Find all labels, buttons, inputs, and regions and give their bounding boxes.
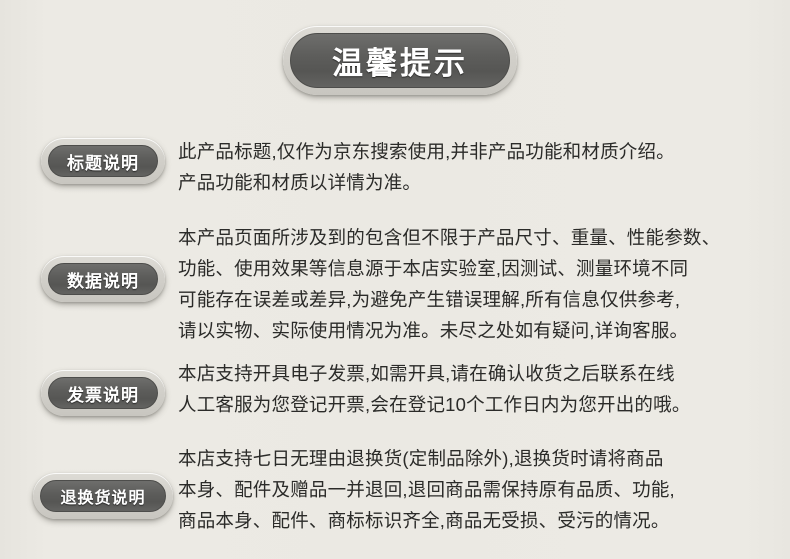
section-badge-return: 退换货说明 — [40, 480, 166, 512]
section-text-invoice: 本店支持开具电子发票,如需开具,请在确认收货之后联系在线 人工客服为您登记开票,… — [178, 358, 768, 420]
title-badge: 温馨提示 — [290, 33, 510, 88]
section-text-line: 本店支持七日无理由退换货(定制品除外),退换货时请将商品 — [178, 443, 768, 474]
section-text-title: 此产品标题,仅作为京东搜索使用,并非产品功能和材质介绍。 产品功能和材质以详情为… — [178, 136, 768, 198]
section-badge-title: 标题说明 — [48, 145, 158, 177]
section-badge-data: 数据说明 — [48, 263, 158, 295]
section-badge-invoice: 发票说明 — [48, 377, 158, 409]
section-label-title: 标题说明 — [67, 149, 139, 174]
page-title: 温馨提示 — [332, 38, 468, 83]
section-text-line: 请以实物、实际使用情况为准。未尽之处如有疑问,详询客服。 — [178, 315, 768, 346]
tips-panel: 温馨提示 标题说明 此产品标题,仅作为京东搜索使用,并非产品功能和材质介绍。 产… — [0, 0, 790, 559]
section-label-invoice: 发票说明 — [67, 381, 139, 406]
section-text-line: 功能、使用效果等信息源于本店实验室,因测试、测量环境不同 — [178, 253, 768, 284]
section-text-data: 本产品页面所涉及到的包含但不限于产品尺寸、重量、性能参数、 功能、使用效果等信息… — [178, 222, 768, 346]
section-text-line: 商品本身、配件、商标标识齐全,商品无受损、受污的情况。 — [178, 505, 768, 536]
section-text-line: 本产品页面所涉及到的包含但不限于产品尺寸、重量、性能参数、 — [178, 222, 768, 253]
section-label-data: 数据说明 — [67, 267, 139, 292]
section-text-line: 本店支持开具电子发票,如需开具,请在确认收货之后联系在线 — [178, 358, 768, 389]
section-text-line: 产品功能和材质以详情为准。 — [178, 167, 768, 198]
section-text-line: 可能存在误差或差异,为避免产生错误理解,所有信息仅供参考, — [178, 284, 768, 315]
section-text-line: 人工客服为您登记开票,会在登记10个工作日内为您开出的哦。 — [178, 389, 768, 420]
section-label-return: 退换货说明 — [60, 484, 145, 508]
section-text-line: 本身、配件及赠品一并退回,退回商品需保持原有品质、功能, — [178, 474, 768, 505]
section-text-return: 本店支持七日无理由退换货(定制品除外),退换货时请将商品 本身、配件及赠品一并退… — [178, 443, 768, 536]
section-text-line: 此产品标题,仅作为京东搜索使用,并非产品功能和材质介绍。 — [178, 136, 768, 167]
